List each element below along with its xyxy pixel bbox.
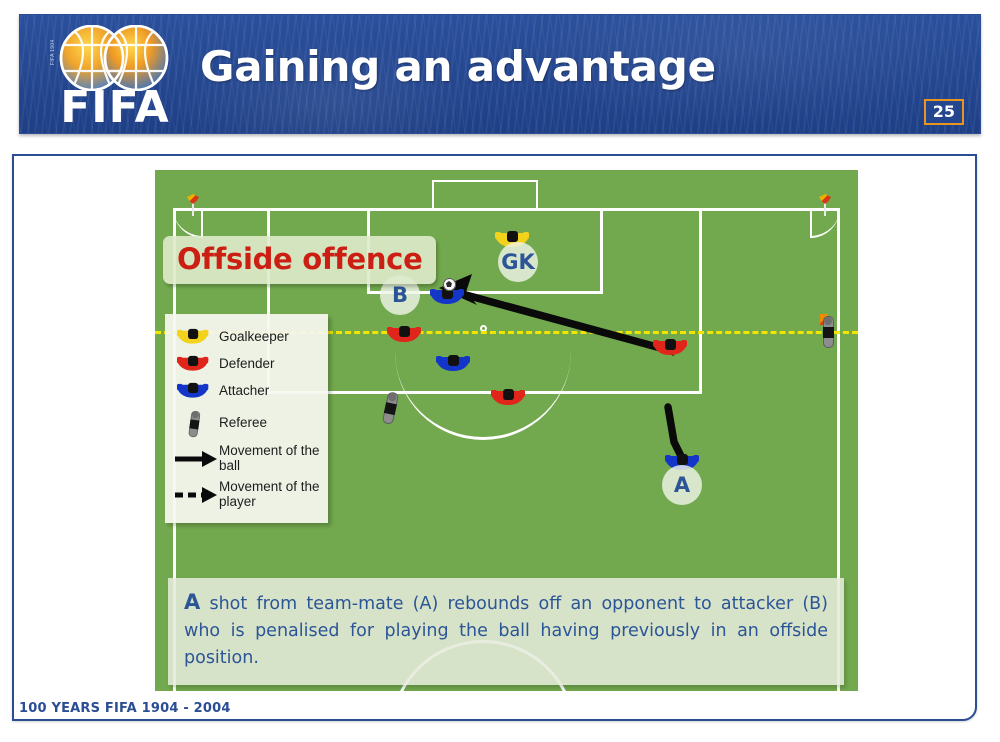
legend-panel: Goalkeeper Defender Attacher Referee: [165, 314, 328, 523]
referee-token-icon: [173, 409, 219, 436]
attacker-a-badge: A: [662, 465, 702, 505]
defender-token-icon: [173, 350, 219, 377]
defender-token-rebound: [653, 338, 687, 355]
legend-label-defender: Defender: [219, 356, 275, 371]
defender-token-left: [387, 325, 421, 342]
legend-label-goalkeeper: Goalkeeper: [219, 329, 289, 344]
legend-label-attacker: Attacher: [219, 383, 269, 398]
footer-text: 100 YEARS FIFA 1904 - 2004: [19, 701, 231, 716]
legend-label-ball-movement: Movement of the ball: [219, 443, 320, 473]
attacker-token-mid: [436, 354, 470, 371]
legend-label-referee: Referee: [219, 415, 267, 430]
legend-row-defender: Defender: [173, 350, 320, 377]
dashed-arrow-icon: [173, 481, 219, 508]
header-banner: FIFA 1904 FIFA Gaining an advantage 25: [19, 14, 981, 134]
offside-offence-label: Offside offence: [163, 236, 436, 284]
fifa-logo: FIFA 1904 FIFA: [38, 23, 188, 131]
caption-box: A shot from team-mate (A) rebounds off a…: [168, 578, 844, 685]
solid-arrow-icon: [173, 445, 219, 472]
page-title: Gaining an advantage: [200, 42, 716, 91]
caption-body: shot from team-mate (A) rebounds off an …: [184, 594, 828, 668]
caption-lead: A: [184, 590, 200, 614]
pitch-diagram: GK B: [155, 170, 858, 691]
attacker-token-icon: [173, 377, 219, 404]
defender-token-arc: [491, 388, 525, 405]
legend-label-player-movement: Movement of the player: [219, 479, 320, 509]
legend-row-goalkeeper: Goalkeeper: [173, 323, 320, 350]
legend-row-ball-movement: Movement of the ball: [173, 440, 320, 476]
ball-icon: [443, 278, 456, 291]
page-number-badge: 25: [924, 99, 964, 125]
assistant-referee-token: [821, 316, 835, 348]
legend-row-player-movement: Movement of the player: [173, 476, 320, 512]
fifa-logo-microtext: FIFA 1904: [50, 31, 56, 65]
legend-row-referee: Referee: [173, 404, 320, 440]
goalkeeper-badge: GK: [498, 242, 538, 282]
legend-row-attacker: Attacher: [173, 377, 320, 404]
slide-root: FIFA 1904 FIFA Gaining an advantage 25: [0, 0, 1000, 742]
fifa-wordmark: FIFA: [50, 85, 180, 131]
goalkeeper-token-icon: [173, 323, 219, 350]
